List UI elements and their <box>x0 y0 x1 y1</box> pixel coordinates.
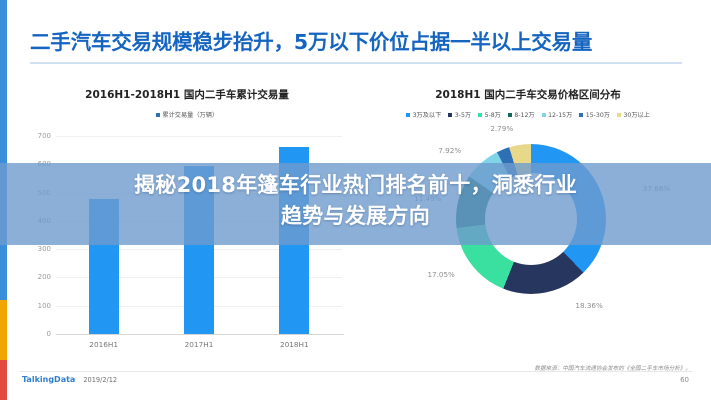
legend-swatch-icon <box>478 113 482 117</box>
donut-value-label: 17.05% <box>427 270 454 279</box>
slide-canvas: 二手汽车交易规模稳步抬升，5万以下价位占据一半以上交易量 2016H1-2018… <box>0 0 711 400</box>
legend-item: 5-8万 <box>478 110 501 119</box>
donut-chart-legend: 3万及以下3-5万5-8万8-12万12-15万15-30万30万以上 <box>360 110 696 119</box>
panel-bar-chart: 2016H1-2018H1 国内二手车累计交易量 累计交易量（万辆） <box>22 88 352 119</box>
y-axis-tick-label: 300 <box>38 245 51 253</box>
page-number: 60 <box>680 376 689 384</box>
legend-label: 5-8万 <box>485 110 501 119</box>
overlay-title-line2: 趋势与发展方向 <box>0 201 711 232</box>
legend-label: 累计交易量（万辆） <box>162 110 218 119</box>
legend-label: 3万及以下 <box>413 110 442 119</box>
slide-headline: 二手汽车交易规模稳步抬升，5万以下价位占据一半以上交易量 <box>30 25 690 55</box>
headline-divider <box>30 62 682 64</box>
y-axis-tick-label: 0 <box>47 330 51 338</box>
legend-label: 12-15万 <box>548 110 572 119</box>
legend-swatch-icon <box>448 113 452 117</box>
legend-swatch-icon <box>542 113 546 117</box>
panel-donut-chart: 2018H1 国内二手车交易价格区间分布 3万及以下3-5万5-8万8-12万1… <box>360 88 696 119</box>
legend-label: 30万以上 <box>623 110 649 119</box>
donut-value-label: 2.79% <box>490 124 513 133</box>
legend-swatch-icon <box>508 113 512 117</box>
legend-item: 12-15万 <box>542 110 573 119</box>
y-axis-tick-label: 700 <box>38 132 51 140</box>
legend-item: 15-30万 <box>579 110 610 119</box>
legend-label: 15-30万 <box>586 110 610 119</box>
legend-swatch-icon <box>156 113 160 117</box>
brand-name: TalkingData <box>22 375 75 384</box>
legend-swatch-icon <box>406 113 410 117</box>
footer-divider <box>20 371 692 372</box>
gridline <box>56 136 342 137</box>
overlay-title-line1: 揭秘2018年篷车行业热门排名前十，洞悉行业 <box>0 170 711 201</box>
donut-value-label: 18.36% <box>575 301 602 310</box>
legend-item: 30万以上 <box>617 110 650 119</box>
x-axis-tick-label: 2018H1 <box>280 340 309 349</box>
bar-chart-legend: 累计交易量（万辆） <box>22 110 352 119</box>
donut-chart-title: 2018H1 国内二手车交易价格区间分布 <box>360 88 696 102</box>
brand-date: 2019/2/12 <box>83 376 117 384</box>
overlay-title: 揭秘2018年篷车行业热门排名前十，洞悉行业 趋势与发展方向 <box>0 170 711 232</box>
legend-label: 3-5万 <box>455 110 471 119</box>
x-axis-tick-label: 2017H1 <box>185 340 214 349</box>
donut-value-label: 7.92% <box>438 146 461 155</box>
bar-chart-x-axis <box>56 334 344 335</box>
brand-block: TalkingData 2019/2/12 <box>22 375 117 384</box>
y-axis-tick-label: 200 <box>38 273 51 281</box>
y-axis-tick-label: 100 <box>38 302 51 310</box>
legend-swatch-icon <box>579 113 583 117</box>
legend-item: 8-12万 <box>508 110 535 119</box>
accent-segment-amber <box>0 300 7 360</box>
accent-segment-blue <box>0 0 7 300</box>
x-axis-tick-label: 2016H1 <box>89 340 118 349</box>
legend-item: 累计交易量（万辆） <box>156 110 218 119</box>
accent-segment-red <box>0 360 7 400</box>
legend-item: 3万及以下 <box>406 110 441 119</box>
legend-item: 3-5万 <box>448 110 471 119</box>
legend-label: 8-12万 <box>514 110 534 119</box>
legend-swatch-icon <box>617 113 621 117</box>
bar-chart-title: 2016H1-2018H1 国内二手车累计交易量 <box>22 88 352 102</box>
